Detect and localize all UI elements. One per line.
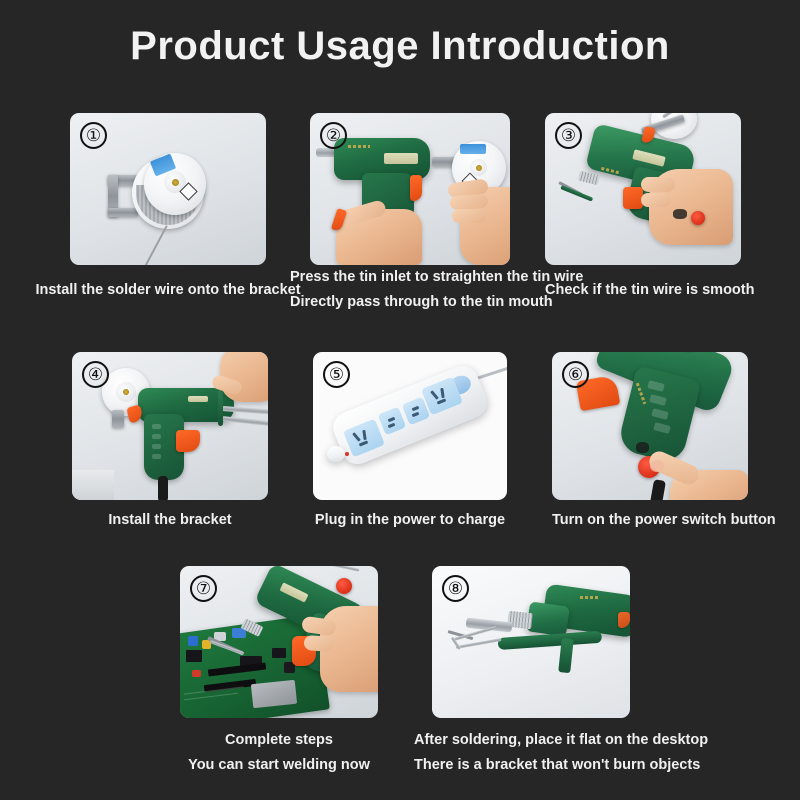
page-title: Product Usage Introduction — [0, 24, 800, 69]
step-panel-3: ③ — [545, 113, 741, 265]
step-1-photo: ① — [70, 113, 266, 265]
step-3-photo: ③ — [545, 113, 741, 265]
step-3-caption: Check if the tin wire is smooth — [545, 278, 741, 303]
step-6-number: ⑥ — [562, 361, 589, 388]
step-2-photo: ② — [310, 113, 510, 265]
step-2-number: ② — [320, 122, 347, 149]
step-panel-8: ⑧ — [432, 566, 630, 718]
step-6-caption: Turn on the power switch button — [552, 508, 748, 533]
step-7-photo: ⑦ — [180, 566, 378, 718]
step-6-photo: ⑥ — [552, 352, 748, 500]
step-8-number: ⑧ — [442, 575, 469, 602]
step-panel-4: ④ — [72, 352, 268, 500]
step-3-number: ③ — [555, 122, 582, 149]
step-panel-7: ⑦ — [180, 566, 378, 718]
step-7-number: ⑦ — [190, 575, 217, 602]
step-2-caption: Press the tin inlet to straighten the ti… — [290, 265, 530, 315]
step-1-number: ① — [80, 122, 107, 149]
step-5-number: ⑤ — [323, 361, 350, 388]
step-panel-2: ② — [310, 113, 510, 265]
step-5-photo: ⑤ — [313, 352, 507, 500]
step-7-caption: Complete steps You can start welding now — [180, 728, 378, 778]
step-8-photo: ⑧ — [432, 566, 630, 718]
step-4-caption: Install the bracket — [72, 508, 268, 533]
step-5-caption: Plug in the power to charge — [313, 508, 507, 533]
step-panel-6: ⑥ — [552, 352, 748, 500]
step-4-number: ④ — [82, 361, 109, 388]
step-panel-1: ① — [70, 113, 266, 265]
step-4-photo: ④ — [72, 352, 268, 500]
step-panel-5: ⑤ — [313, 352, 507, 500]
step-1-caption: Install the solder wire onto the bracket — [20, 278, 316, 303]
infographic-page: Product Usage Introduction ① — [0, 0, 800, 800]
step-8-caption: After soldering, place it flat on the de… — [414, 728, 650, 778]
